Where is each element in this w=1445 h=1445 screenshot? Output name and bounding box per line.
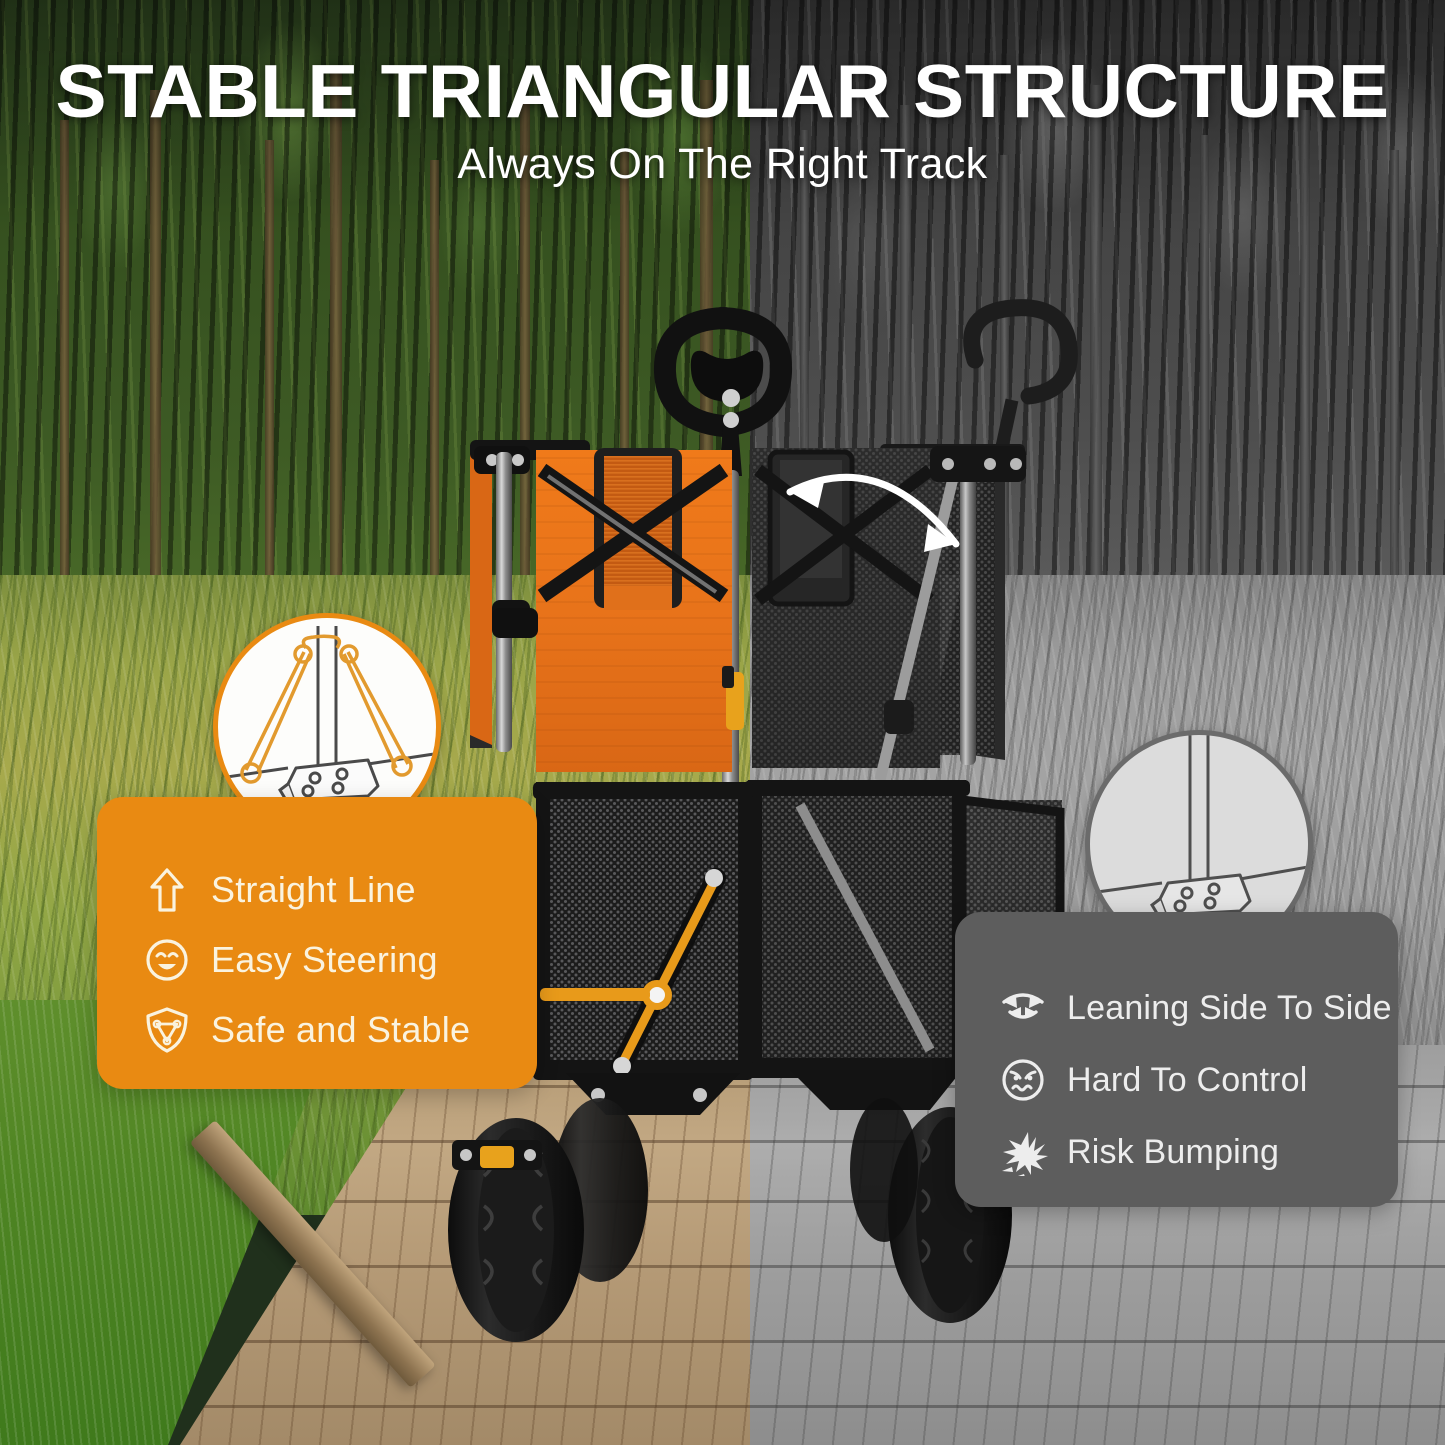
drawbacks-card: Leaning Side To Side Hard To Control (955, 912, 1398, 1207)
product-feature-image: Straight Line Easy Steering (0, 0, 1445, 1445)
benefits-list: Straight Line Easy Steering (139, 855, 519, 1065)
drawback-label: Hard To Control (1067, 1061, 1308, 1100)
drawback-row-risk-bumping: Risk Bumping (995, 1116, 1380, 1188)
shield-triangle-icon (139, 1006, 195, 1054)
double-arrow-arc-icon (995, 984, 1051, 1032)
burst-impact-icon (995, 1128, 1051, 1176)
benefit-row-easy-steering: Easy Steering (139, 925, 519, 995)
benefit-label: Easy Steering (211, 939, 438, 981)
benefit-row-straight-line: Straight Line (139, 855, 519, 925)
page-subtitle: Always On The Right Track (0, 140, 1445, 189)
benefits-card: Straight Line Easy Steering (97, 797, 537, 1089)
drawback-row-leaning: Leaning Side To Side (995, 972, 1380, 1044)
worried-face-icon (995, 1056, 1051, 1104)
up-arrow-icon (139, 866, 195, 914)
drawback-row-hard-control: Hard To Control (995, 1044, 1380, 1116)
page-title: STABLE TRIANGULAR STRUCTURE (0, 48, 1445, 134)
drawbacks-list: Leaning Side To Side Hard To Control (995, 972, 1380, 1188)
drawback-label: Risk Bumping (1067, 1133, 1279, 1172)
benefit-label: Safe and Stable (211, 1009, 470, 1051)
drawback-label: Leaning Side To Side (1067, 989, 1392, 1028)
benefit-label: Straight Line (211, 869, 416, 911)
benefit-row-safe-stable: Safe and Stable (139, 995, 519, 1065)
smiley-face-icon (139, 936, 195, 984)
